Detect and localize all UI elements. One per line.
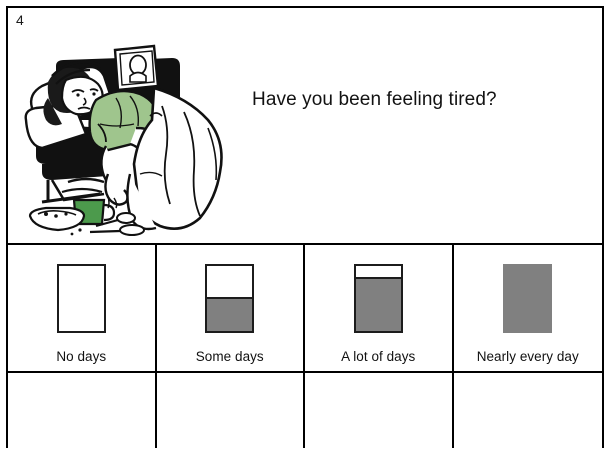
gauge-empty — [57, 264, 106, 333]
gauge-full — [503, 264, 552, 333]
option-cell-nearly-every-day[interactable]: Nearly every day — [454, 245, 603, 371]
question-panel: 4 — [8, 8, 602, 245]
questionnaire-page: 4 — [0, 0, 610, 455]
gauge-half — [205, 264, 254, 333]
gauge-level-line — [207, 297, 252, 299]
answer-cell-a-lot-of-days[interactable] — [305, 373, 454, 448]
answer-cell-no-days[interactable] — [8, 373, 157, 448]
response-options-row: No days Some days A lot of days — [8, 245, 602, 373]
gauge-level-line — [356, 277, 401, 279]
answer-cell-nearly-every-day[interactable] — [454, 373, 603, 448]
gauge-fill — [207, 299, 252, 332]
option-label-nearly-every-day: Nearly every day — [454, 349, 603, 364]
question-text: Have you been feeling tired? — [252, 88, 592, 112]
gauge-most — [354, 264, 403, 333]
option-label-no-days: No days — [8, 349, 155, 364]
question-card: 4 — [6, 6, 604, 448]
option-cell-no-days[interactable]: No days — [8, 245, 157, 371]
option-cell-a-lot-of-days[interactable]: A lot of days — [305, 245, 454, 371]
option-cell-some-days[interactable]: Some days — [157, 245, 306, 371]
answer-cell-some-days[interactable] — [157, 373, 306, 448]
answer-entry-row — [8, 373, 602, 448]
option-label-some-days: Some days — [157, 349, 304, 364]
gauge-fill — [505, 266, 550, 331]
gauge-fill — [356, 279, 401, 331]
option-label-a-lot-of-days: A lot of days — [305, 349, 452, 364]
woman-resting-on-couch-illustration — [12, 24, 236, 238]
